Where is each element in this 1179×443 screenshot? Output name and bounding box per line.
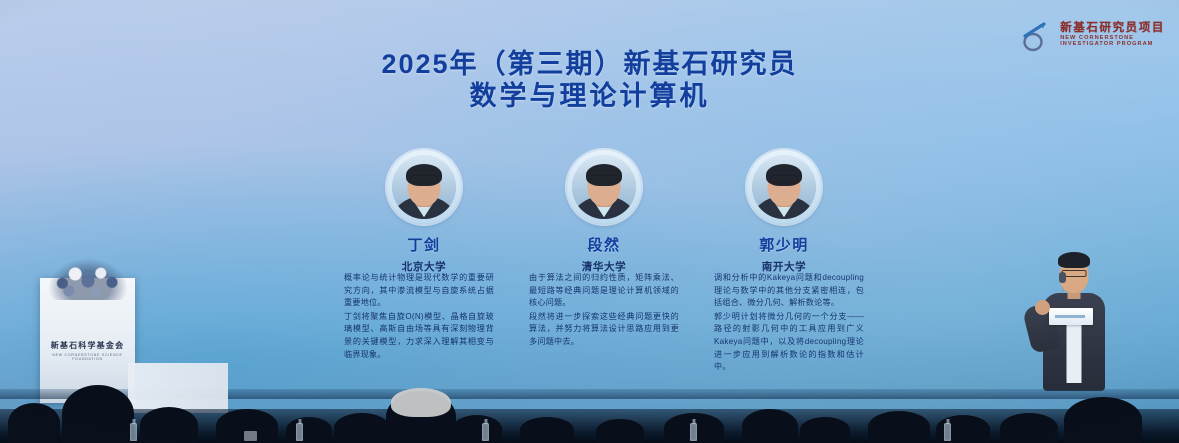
audience-cup: [244, 431, 257, 441]
description-paragraph: 由于算法之间的归约性质，矩阵乘法、最短路等经典问题是理论计算机领域的核心问题。: [529, 272, 679, 310]
avatar: [572, 155, 636, 219]
audience-head: [800, 417, 850, 443]
researcher-card-3: 郭少明 南开大学: [704, 150, 864, 274]
logo-title-en-line2: INVESTIGATOR PROGRAM: [1060, 42, 1165, 48]
avatar-ring: [387, 150, 461, 224]
presenter-at-microphone: [1019, 241, 1129, 391]
audience-head: [596, 419, 644, 443]
researcher-name: 郭少明: [759, 234, 809, 255]
researcher-descriptions: 概率论与统计物理是现代数学的重要研究方向，其中渗流模型与自旋系统占据重要地位。 …: [344, 272, 864, 375]
researcher-name: 丁剑: [407, 234, 440, 255]
researcher-name: 段然: [587, 234, 620, 255]
logo-wordmark: 新基石研究员项目 NEW CORNERSTONE INVESTIGATOR PR…: [1060, 22, 1165, 48]
audience-head: [286, 417, 332, 443]
audience-head: [334, 413, 390, 443]
audience-head: [742, 409, 798, 443]
presenter-notecard: [1049, 308, 1093, 325]
audience-head: [8, 403, 60, 443]
lectern-sign-en: NEW CORNERSTONE SCIENCE FOUNDATION: [40, 353, 135, 361]
researcher-description-3: 调和分析中的Kakeya问题和decoupling理论与数学中的其他分支紧密相连…: [714, 272, 864, 375]
audience-head: [520, 417, 574, 443]
avatar-ring: [567, 150, 641, 224]
slide-title: 2025年（第三期）新基石研究员 数学与理论计算机: [0, 48, 1179, 112]
audience-bottle: [944, 423, 951, 441]
audience-bottle: [130, 423, 137, 441]
audience-bottle: [482, 423, 489, 441]
researcher-card-1: 丁剑 北京大学: [344, 150, 504, 274]
audience-head: [1064, 397, 1142, 443]
audience-head: [140, 407, 198, 443]
researcher-card-2: 段然 清华大学: [524, 150, 684, 274]
audience-bottle: [690, 423, 697, 441]
audience-silhouettes: [0, 377, 1179, 443]
description-paragraph: 调和分析中的Kakeya问题和decoupling理论与数学中的其他分支紧密相连…: [714, 272, 864, 310]
avatar: [392, 155, 456, 219]
slide-title-line2: 数学与理论计算机: [0, 80, 1179, 112]
audience-head: [452, 415, 502, 443]
flower-arrangement: [48, 258, 128, 300]
avatar: [752, 155, 816, 219]
researcher-list: 丁剑 北京大学 段然 清华大学 郭少明: [344, 150, 864, 274]
avatar-ring: [747, 150, 821, 224]
logo-title-cn: 新基石研究员项目: [1060, 23, 1165, 35]
conference-stage-photo: 新基石研究员项目 NEW CORNERSTONE INVESTIGATOR PR…: [0, 0, 1179, 443]
audience-head: [386, 391, 456, 443]
program-logo: 新基石研究员项目 NEW CORNERSTONE INVESTIGATOR PR…: [1019, 18, 1165, 52]
description-paragraph: 郭少明计划将微分几何的一个分支——路径的射影几何中的工具应用到广义Kakeya问…: [714, 311, 864, 374]
researcher-description-1: 概率论与统计物理是现代数学的重要研究方向，其中渗流模型与自旋系统占据重要地位。 …: [344, 272, 494, 375]
audience-head: [62, 385, 134, 443]
microphone-icon: [1059, 272, 1066, 283]
researcher-description-2: 由于算法之间的归约性质，矩阵乘法、最短路等经典问题是理论计算机领域的核心问题。 …: [529, 272, 679, 375]
audience-bottle: [296, 423, 303, 441]
glasses-icon: [410, 175, 438, 183]
glasses-icon: [770, 175, 798, 183]
slide-title-line1: 2025年（第三期）新基石研究员: [0, 48, 1179, 80]
audience-head: [1000, 413, 1058, 443]
glasses-icon: [590, 175, 618, 183]
description-paragraph: 概率论与统计物理是现代数学的重要研究方向，其中渗流模型与自旋系统占据重要地位。: [344, 272, 494, 310]
description-paragraph: 丁剑将聚焦自旋O(N)模型、晶格自旋玻璃模型、高斯自由场等具有深刻物理背景的关键…: [344, 311, 494, 361]
audience-hair: [391, 388, 451, 417]
audience-head: [868, 411, 930, 443]
lectern-sign-cn: 新基石科学基金会: [40, 340, 135, 351]
description-paragraph: 段然将进一步探索这些经典问题更快的算法，并努力将算法设计思路应用到更多问题中去。: [529, 311, 679, 349]
new-cornerstone-logo-mark: [1019, 18, 1053, 52]
lectern-sign: 新基石科学基金会 NEW CORNERSTONE SCIENCE FOUNDAT…: [40, 340, 135, 361]
